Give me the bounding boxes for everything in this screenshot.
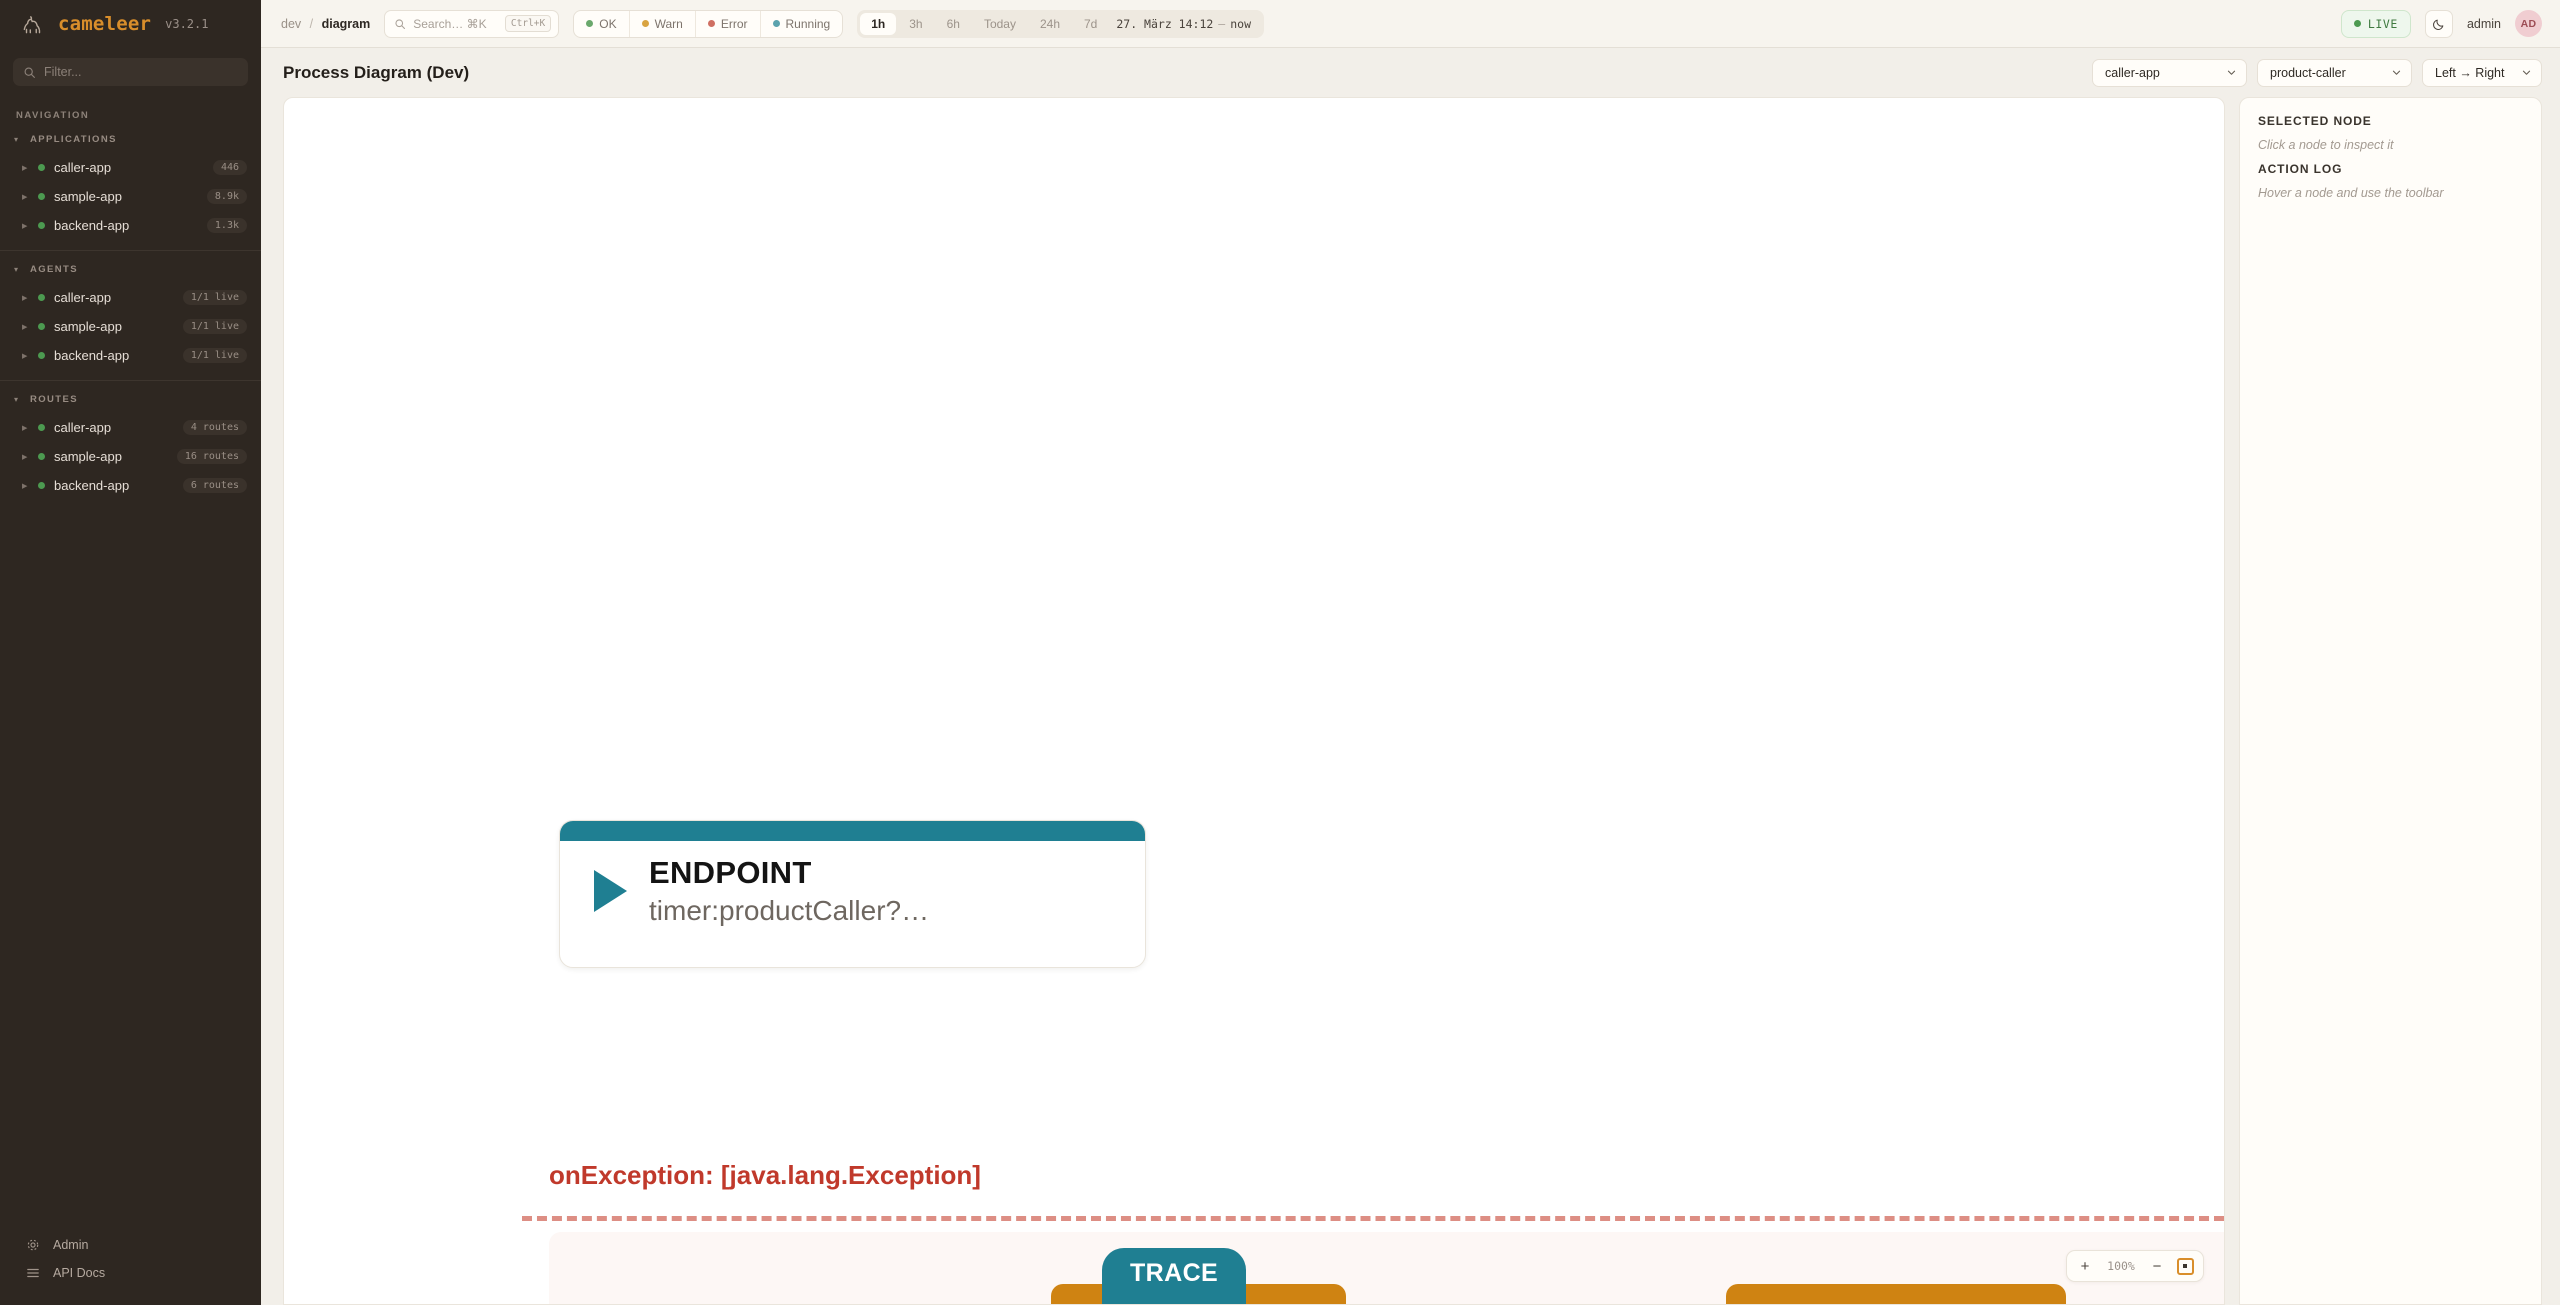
status-filter-group: OK Warn Error Running [573, 10, 843, 38]
time-range-today[interactable]: Today [973, 13, 1027, 35]
search-placeholder: Search… ⌘K [413, 17, 498, 31]
zoom-controls: + 100% − [2066, 1250, 2204, 1282]
moon-icon [2432, 17, 2446, 31]
range-end: now [1230, 17, 1251, 31]
play-triangle-icon [594, 870, 627, 912]
item-label: caller-app [54, 420, 174, 435]
item-badge: 1/1 live [183, 290, 247, 305]
fit-to-screen-icon [2177, 1258, 2194, 1275]
item-badge: 4 routes [183, 420, 247, 435]
chevron-right-icon: ▶ [22, 193, 29, 201]
selected-node-empty-text: Click a node to inspect it [2258, 138, 2523, 152]
page-header: Process Diagram (Dev) caller-app product… [261, 48, 2560, 97]
item-badge: 1/1 live [183, 348, 247, 363]
chevron-right-icon: ▶ [22, 222, 29, 230]
content-area: ENDPOINT timer:productCaller?… onExcepti… [261, 97, 2560, 1305]
item-badge: 446 [213, 160, 247, 175]
item-label: backend-app [54, 478, 174, 493]
main-area: dev / diagram Search… ⌘K Ctrl+K OK [261, 0, 2560, 1305]
sidebar-item-routes-sample-app[interactable]: ▶ sample-app 16 routes [0, 442, 261, 471]
chevron-down-icon: ▾ [14, 396, 22, 404]
item-badge: 6 routes [183, 478, 247, 493]
select-value: product-caller [2270, 66, 2381, 80]
status-filter-error[interactable]: Error [695, 11, 760, 37]
theme-toggle-button[interactable] [2425, 10, 2453, 38]
item-label: sample-app [54, 319, 174, 334]
zoom-in-button[interactable]: + [2073, 1254, 2097, 1278]
search-icon [23, 66, 36, 79]
diagram-node-header-orange-right[interactable] [1726, 1284, 2066, 1304]
zoom-out-button[interactable]: − [2145, 1254, 2169, 1278]
diagram-node-endpoint[interactable]: ENDPOINT timer:productCaller?… [559, 820, 1146, 968]
node-header-bar [560, 821, 1145, 841]
footer-label: API Docs [53, 1266, 105, 1280]
brand[interactable]: cameleer v3.2.1 [0, 0, 261, 48]
chevron-right-icon: ▶ [22, 453, 29, 461]
status-dot [38, 323, 45, 330]
list-icon [26, 1266, 40, 1280]
topbar: dev / diagram Search… ⌘K Ctrl+K OK [261, 0, 2560, 48]
chevron-down-icon [2226, 67, 2237, 78]
status-filter-ok[interactable]: OK [574, 11, 628, 37]
item-label: caller-app [54, 290, 174, 305]
live-label: LIVE [2368, 17, 2398, 31]
route-select[interactable]: product-caller [2257, 59, 2412, 87]
chevron-down-icon: ▾ [14, 266, 22, 274]
node-text: ENDPOINT timer:productCaller?… [649, 855, 929, 927]
search-icon [394, 18, 406, 30]
status-dot [38, 193, 45, 200]
brand-name: cameleer [58, 13, 151, 35]
user-name: admin [2467, 17, 2501, 31]
sidebar-item-routes-caller-app[interactable]: ▶ caller-app 4 routes [0, 413, 261, 442]
item-badge: 1.3k [207, 218, 247, 233]
chevron-down-icon [2521, 67, 2532, 78]
page-title: Process Diagram (Dev) [283, 63, 469, 83]
range-dash: – [1218, 17, 1225, 31]
gear-icon [26, 1238, 40, 1252]
status-dot [642, 20, 649, 27]
sidebar: cameleer v3.2.1 NAVIGATION ▾ APPLICATION… [0, 0, 261, 1305]
breadcrumb-current: diagram [322, 17, 371, 31]
group-label: APPLICATIONS [30, 134, 117, 145]
live-dot [2354, 20, 2361, 27]
group-header-routes[interactable]: ▾ ROUTES [0, 391, 261, 413]
item-label: sample-app [54, 449, 168, 464]
sidebar-filter [0, 48, 261, 92]
brand-version: v3.2.1 [165, 17, 208, 31]
app-root: cameleer v3.2.1 NAVIGATION ▾ APPLICATION… [0, 0, 2560, 1305]
status-filter-running[interactable]: Running [760, 11, 843, 37]
status-dot [38, 164, 45, 171]
status-filter-label: Warn [655, 17, 683, 31]
chevron-right-icon: ▶ [22, 164, 29, 172]
status-filter-warn[interactable]: Warn [629, 11, 695, 37]
time-range-display[interactable]: 27. März 14:12–now [1110, 17, 1261, 31]
node-uri-label: timer:productCaller?… [649, 894, 929, 928]
sidebar-footer: Admin API Docs [0, 1231, 261, 1305]
chevron-down-icon [2391, 67, 2402, 78]
chevron-right-icon: ▶ [22, 352, 29, 360]
group-header-agents[interactable]: ▾ AGENTS [0, 261, 261, 283]
breadcrumb: dev / diagram [281, 17, 370, 31]
live-badge[interactable]: LIVE [2341, 10, 2411, 38]
time-range-6h[interactable]: 6h [936, 13, 971, 35]
node-kind-label: ENDPOINT [649, 855, 929, 891]
item-label: sample-app [54, 189, 198, 204]
diagram-selects: caller-app product-caller Left → Right [2092, 59, 2542, 87]
sidebar-item-applications-backend-app[interactable]: ▶ backend-app 1.3k [0, 211, 261, 240]
chevron-right-icon: ▶ [22, 323, 29, 331]
action-log-title: ACTION LOG [2258, 162, 2523, 176]
time-range-3h[interactable]: 3h [898, 13, 933, 35]
chevron-right-icon: ▶ [22, 482, 29, 490]
item-label: backend-app [54, 218, 198, 233]
exception-band-label: onException: [java.lang.Exception] [549, 1160, 981, 1191]
avatar[interactable]: AD [2515, 10, 2542, 37]
filter-input[interactable] [44, 65, 238, 79]
nav-group-applications: ▾ APPLICATIONS ▶ caller-app 446 ▶ sample… [0, 131, 261, 244]
chevron-right-icon: ▶ [22, 424, 29, 432]
time-range-7d[interactable]: 7d [1073, 13, 1108, 35]
item-badge: 1/1 live [183, 319, 247, 334]
group-label: AGENTS [30, 264, 78, 275]
item-label: caller-app [54, 160, 204, 175]
fit-to-screen-button[interactable] [2173, 1254, 2197, 1278]
nav-group-routes: ▾ ROUTES ▶ caller-app 4 routes ▶ sample-… [0, 380, 261, 504]
sidebar-item-agents-backend-app[interactable]: ▶ backend-app 1/1 live [0, 341, 261, 370]
sidebar-item-admin[interactable]: Admin [0, 1231, 261, 1259]
sidebar-item-api-docs[interactable]: API Docs [0, 1259, 261, 1287]
camel-icon [20, 11, 46, 37]
breadcrumb-separator: / [310, 17, 313, 31]
status-dot [38, 222, 45, 229]
chevron-down-icon: ▾ [14, 136, 22, 144]
application-select[interactable]: caller-app [2092, 59, 2247, 87]
status-filter-label: Error [721, 17, 748, 31]
action-log-empty-text: Hover a node and use the toolbar [2258, 186, 2523, 200]
zoom-level: 100% [2101, 1259, 2141, 1273]
inspector-panel: SELECTED NODE Click a node to inspect it… [2239, 97, 2542, 1305]
item-label: backend-app [54, 348, 174, 363]
sidebar-item-routes-backend-app[interactable]: ▶ backend-app 6 routes [0, 471, 261, 500]
nav-group-agents: ▾ AGENTS ▶ caller-app 1/1 live ▶ sample-… [0, 250, 261, 374]
trace-pill[interactable]: TRACE [1102, 1248, 1246, 1304]
status-dot [708, 20, 715, 27]
exception-band-divider [522, 1216, 2224, 1221]
select-value: Left → Right [2435, 66, 2511, 80]
sidebar-item-applications-caller-app[interactable]: ▶ caller-app 446 [0, 153, 261, 182]
group-header-applications[interactable]: ▾ APPLICATIONS [0, 131, 261, 153]
selected-node-title: SELECTED NODE [2258, 114, 2523, 128]
status-dot [586, 20, 593, 27]
time-range-group: 1h 3h 6h Today 24h 7d 27. März 14:12–now [857, 10, 1264, 38]
status-dot [38, 424, 45, 431]
breadcrumb-root[interactable]: dev [281, 17, 301, 31]
filter-box[interactable] [13, 58, 248, 86]
sidebar-item-agents-caller-app[interactable]: ▶ caller-app 1/1 live [0, 283, 261, 312]
group-label: ROUTES [30, 394, 78, 405]
item-badge: 8.9k [207, 189, 247, 204]
search-input[interactable]: Search… ⌘K Ctrl+K [384, 10, 559, 38]
sidebar-item-agents-sample-app[interactable]: ▶ sample-app 1/1 live [0, 312, 261, 341]
status-dot [38, 294, 45, 301]
chevron-right-icon: ▶ [22, 294, 29, 302]
nav-section-title: NAVIGATION [0, 104, 261, 131]
status-dot [773, 20, 780, 27]
footer-label: Admin [53, 1238, 88, 1252]
sidebar-item-applications-sample-app[interactable]: ▶ sample-app 8.9k [0, 182, 261, 211]
status-dot [38, 482, 45, 489]
status-filter-label: Running [786, 17, 831, 31]
status-dot [38, 453, 45, 460]
status-dot [38, 352, 45, 359]
select-value: caller-app [2105, 66, 2216, 80]
direction-select[interactable]: Left → Right [2422, 59, 2542, 87]
time-range-1h[interactable]: 1h [860, 13, 896, 35]
search-shortcut-chip: Ctrl+K [505, 15, 551, 32]
sidebar-nav: NAVIGATION ▾ APPLICATIONS ▶ caller-app 4… [0, 92, 261, 1231]
time-range-24h[interactable]: 24h [1029, 13, 1071, 35]
status-filter-label: OK [599, 17, 616, 31]
diagram-canvas[interactable]: ENDPOINT timer:productCaller?… onExcepti… [283, 97, 2225, 1305]
item-badge: 16 routes [177, 449, 247, 464]
node-body: ENDPOINT timer:productCaller?… [560, 841, 1145, 927]
range-start: 27. März 14:12 [1116, 17, 1213, 31]
